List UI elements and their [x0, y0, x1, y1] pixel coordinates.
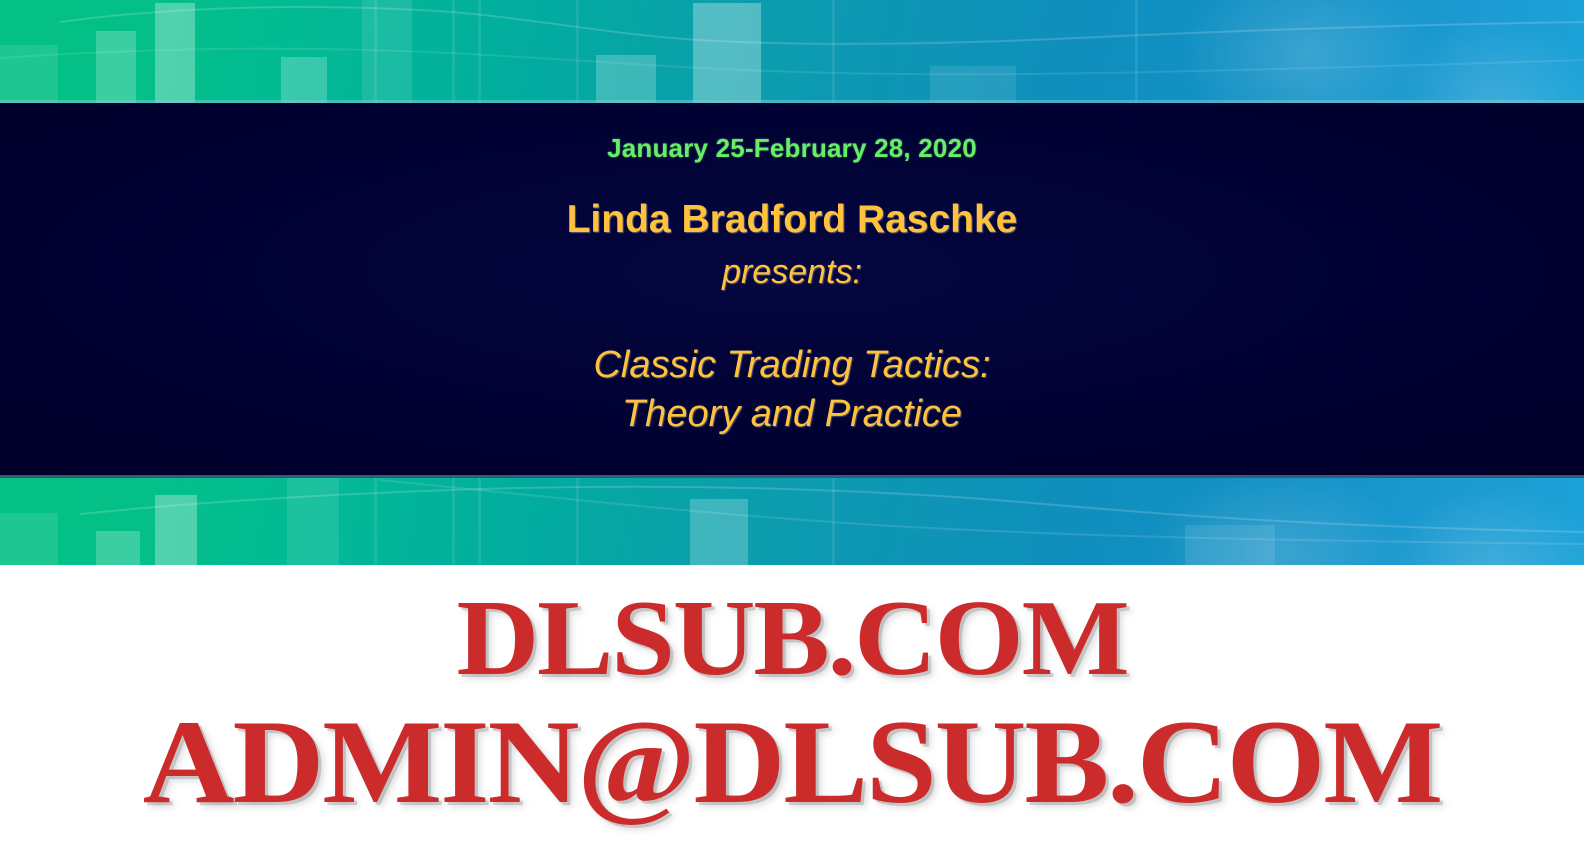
title-panel: January 25-February 28, 2020 Linda Bradf… [0, 103, 1584, 478]
course-title-line-1: Classic Trading Tactics: [0, 341, 1584, 390]
event-date-range: January 25-February 28, 2020 [0, 133, 1584, 164]
course-title-line-2: Theory and Practice [0, 390, 1584, 439]
presents-label: presents: [0, 253, 1584, 292]
top-decorative-banner [0, 0, 1584, 103]
banner-trend-line-icon [0, 0, 1584, 103]
course-title: Classic Trading Tactics: Theory and Prac… [0, 341, 1584, 439]
watermark-area: DLSUB.COM ADMIN@DLSUB.COM [0, 565, 1584, 864]
watermark-email: ADMIN@DLSUB.COM [0, 693, 1584, 831]
presentation-slide: January 25-February 28, 2020 Linda Bradf… [0, 0, 1584, 864]
watermark-site: DLSUB.COM [0, 577, 1584, 701]
presenter-name: Linda Bradford Raschke [0, 198, 1584, 242]
banner-trend-line-icon [0, 478, 1584, 565]
bottom-decorative-banner [0, 478, 1584, 565]
